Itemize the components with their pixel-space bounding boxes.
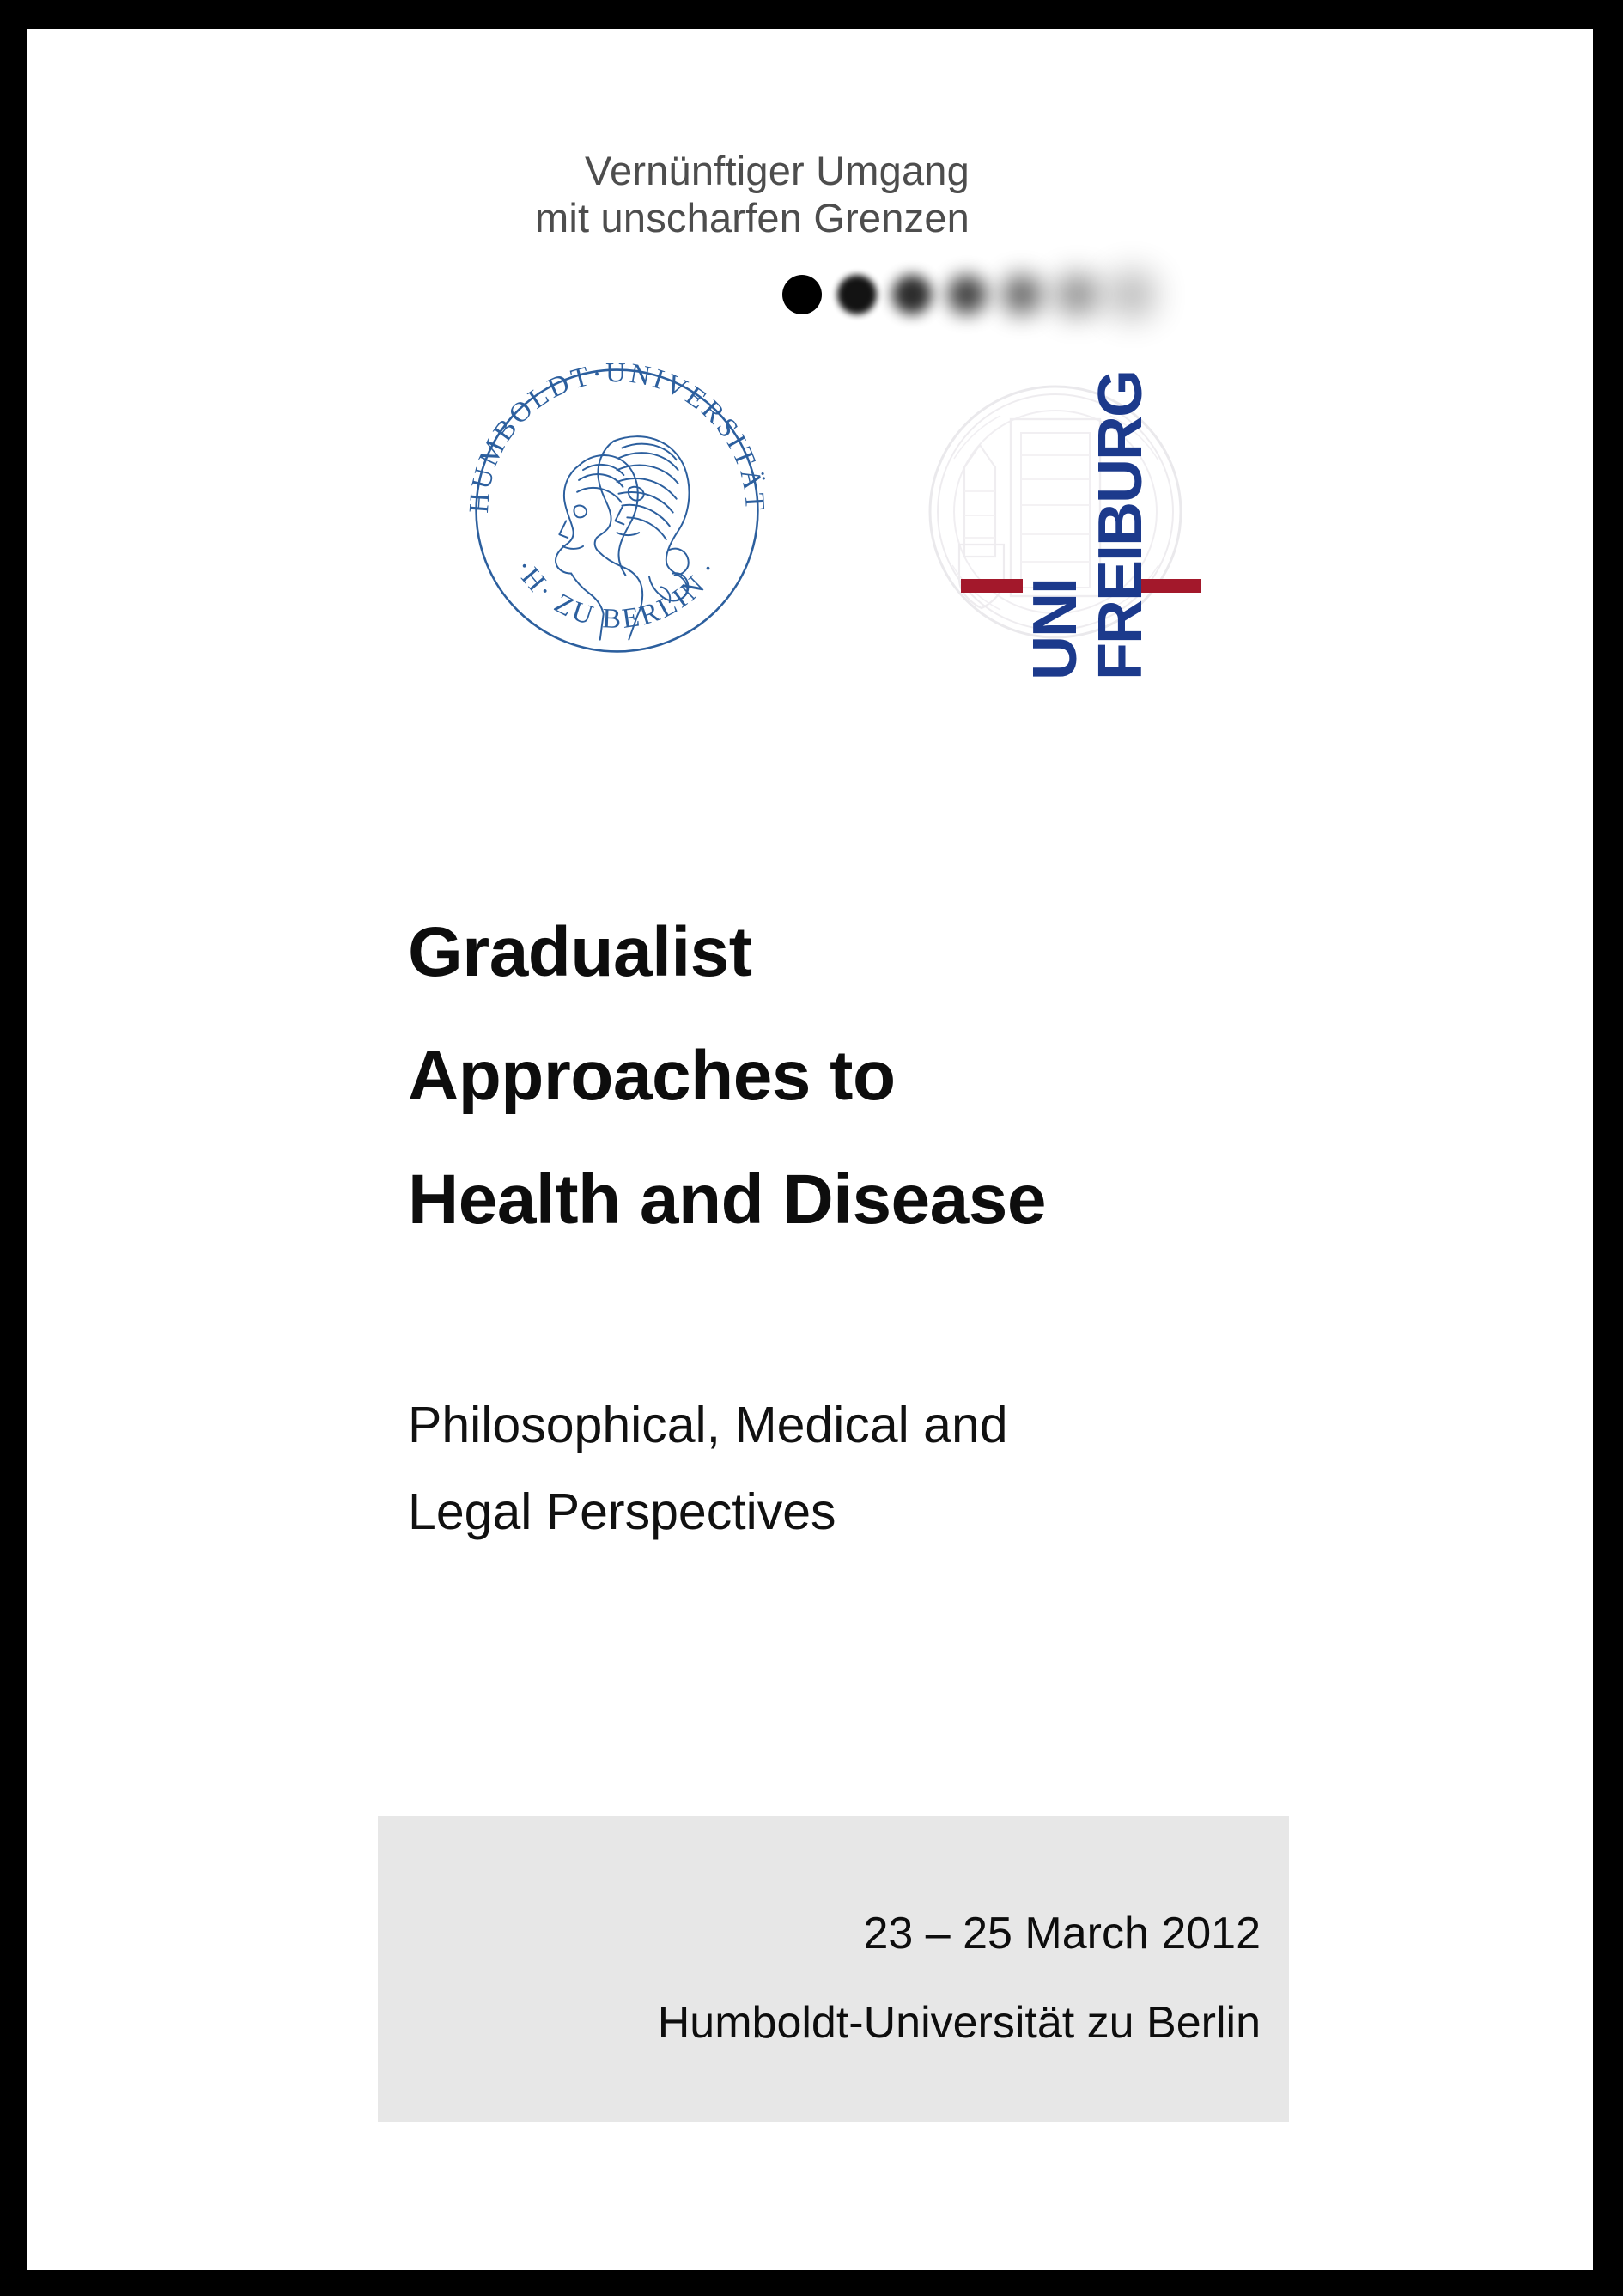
- svg-text:FREIBURG: FREIBURG: [1086, 371, 1155, 680]
- svg-text:UNI: UNI: [1021, 579, 1090, 680]
- title-line-3: Health and Disease: [408, 1138, 1352, 1262]
- poster-page: Vernünftiger Umgang mit unscharfen Grenz…: [27, 29, 1593, 2270]
- page-title: Gradualist Approaches to Health and Dise…: [408, 891, 1352, 1262]
- svg-text:·H· ZU BERLIN ·: ·H· ZU BERLIN ·: [508, 554, 726, 635]
- humboldt-university-logo-icon: HUMBOLDT·UNIVERSITÄT ·H· ZU BERLIN ·: [447, 341, 787, 680]
- event-venue: Humboldt-Universität zu Berlin: [658, 1994, 1261, 2052]
- subtitle-line-2: Legal Perspectives: [408, 1469, 1352, 1556]
- subtitle-line-1: Philosophical, Medical and: [408, 1382, 1352, 1469]
- page-subtitle: Philosophical, Medical and Legal Perspec…: [408, 1382, 1352, 1556]
- event-date: 23 – 25 March 2012: [658, 1904, 1261, 1963]
- title-line-2: Approaches to: [408, 1014, 1352, 1138]
- svg-text:HUMBOLDT·UNIVERSITÄT: HUMBOLDT·UNIVERSITÄT: [464, 357, 770, 514]
- logo-row: HUMBOLDT·UNIVERSITÄT ·H· ZU BERLIN ·: [27, 29, 1593, 433]
- title-line-1: Gradualist: [408, 891, 1352, 1014]
- event-details-box: 23 – 25 March 2012 Humboldt-Universität …: [378, 1816, 1289, 2122]
- uni-freiburg-logo-icon: UNI FREIBURG: [925, 366, 1217, 685]
- event-details-text: 23 – 25 March 2012 Humboldt-Universität …: [658, 1904, 1261, 2052]
